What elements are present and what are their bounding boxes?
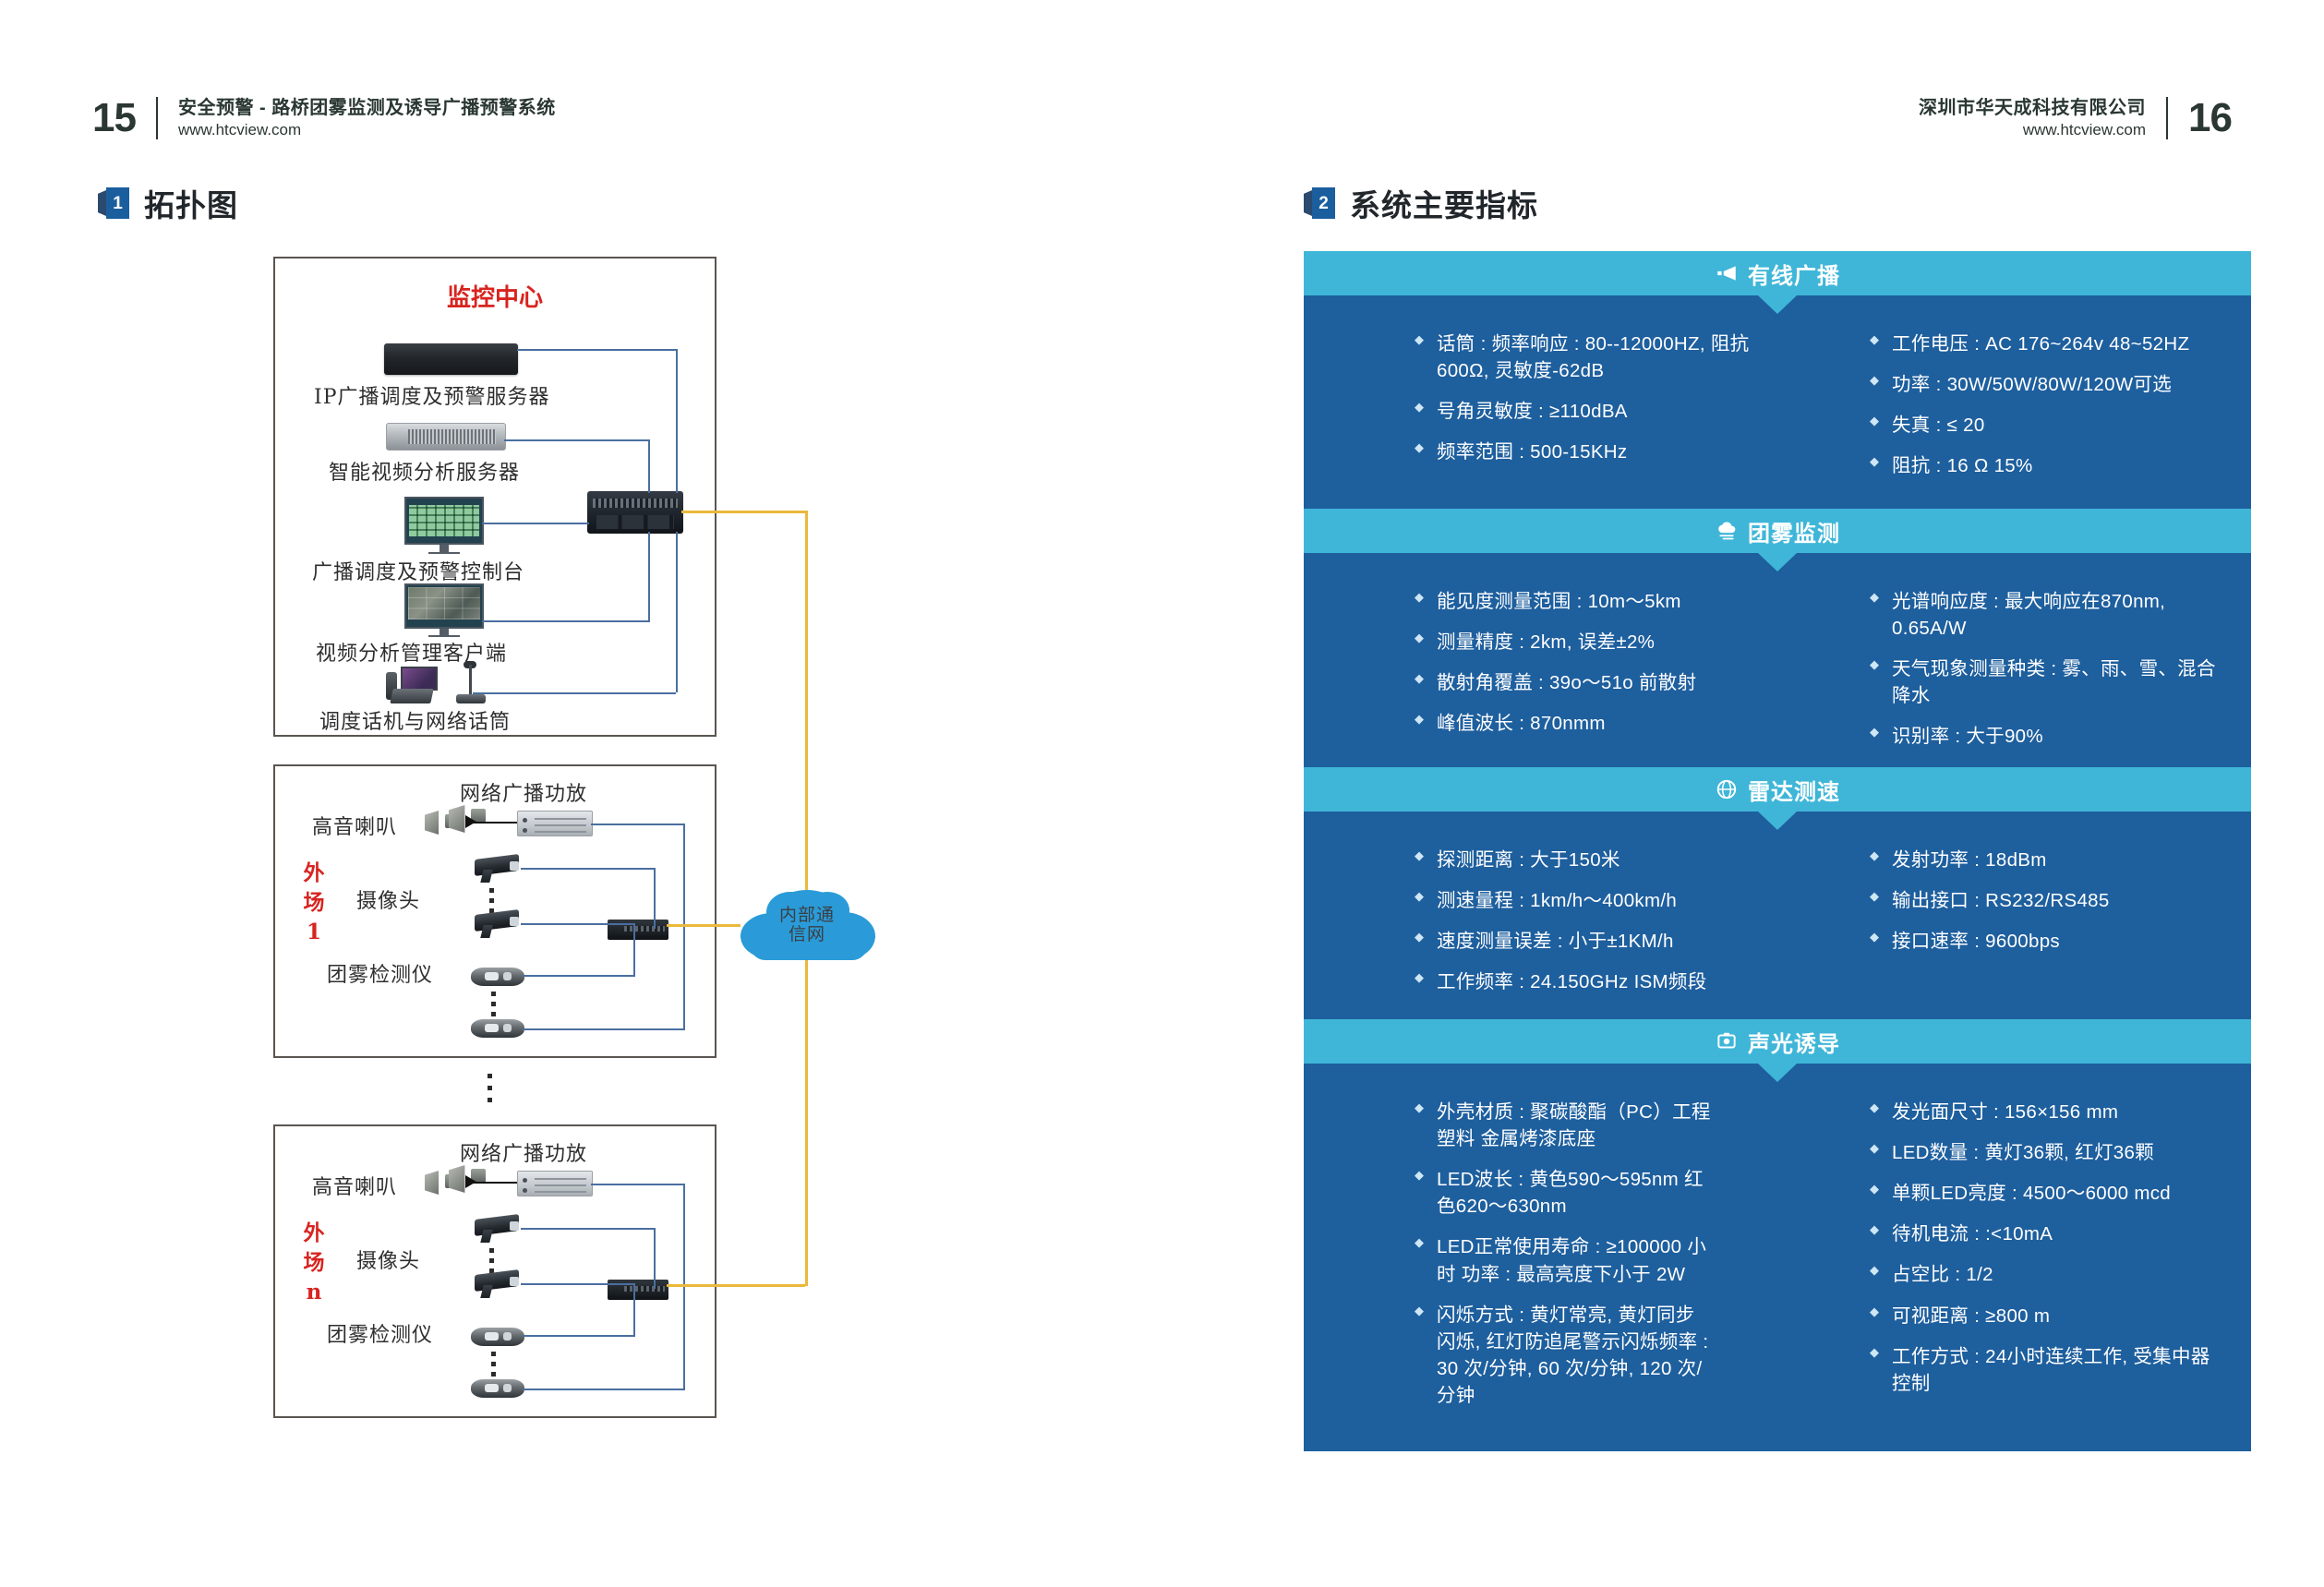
node-label-ip-server: IP广播调度及预警服务器 (314, 380, 550, 410)
control-console-monitor-icon (404, 497, 484, 554)
field-box-1: 外 场 1 网络广播功放 高音喇叭 (273, 764, 716, 1058)
spec-item: 号角灵敏度 : ≥110dBA (1415, 398, 1755, 425)
amp-to-speaker-arrow-head-n (465, 1175, 476, 1188)
wire-fog1a-h (523, 975, 635, 977)
cloud-label: 内部通 信网 (729, 875, 885, 975)
panel-1-col-right: 工作电压 : AC 176~264v 48~52HZ 功率 : 30W/50W/… (1777, 331, 2251, 479)
wire-server2-v (648, 439, 650, 493)
node-label-console: 广播调度及预警控制台 (312, 556, 524, 585)
spec-item: 可视距离 : ≥800 m (1870, 1303, 2229, 1329)
megaphone-icon (1715, 261, 1739, 285)
wire-console-h (482, 523, 589, 524)
fieldn-label-line2: 场 (295, 1248, 332, 1278)
spec-item: 速度测量误差 : 小于±1KM/h (1415, 928, 1755, 955)
panel-title-3: 雷达测速 (1748, 774, 1840, 806)
panel-body-3: 探测距离 : 大于150米 测速量程 : 1km/h～400km/h 速度测量误… (1304, 812, 2251, 1027)
node-label-phone-mic: 调度话机与网络话筒 (319, 705, 511, 735)
spec-item: 峰值波长 : 870nmm (1415, 710, 1755, 737)
wire-fognb-h (523, 1389, 685, 1390)
spec-item: 天气现象测量种类 : 雾、雨、雪、混合降水 (1870, 655, 2229, 709)
field1-label-line3: 1 (295, 918, 332, 947)
spec-item: 工作方式 : 24小时连续工作, 受集中器控制 (1870, 1343, 2229, 1397)
spec-item: 发光面尺寸 : 156×156 mm (1870, 1099, 2229, 1125)
header-url-right[interactable]: www.htcview.com (2023, 120, 2146, 139)
panel-3-col-right: 发射功率 : 18dBm 输出接口 : RS232/RS485 接口速率 : 9… (1777, 847, 2251, 995)
folio-right: 16 (2188, 98, 2232, 138)
rack-server-dark-icon (384, 343, 518, 375)
spec-item: 测速量程 : 1km/h～400km/h (1415, 887, 1755, 914)
fog-detector-icon-1b (471, 1019, 524, 1038)
cloud-label-line1: 内部通 (779, 906, 835, 925)
spec-item: 工作电压 : AC 176~264v 48~52HZ (1870, 331, 2229, 357)
panel-title-4: 声光诱导 (1748, 1026, 1840, 1058)
wire-cam1a-h (521, 868, 656, 870)
network-amplifier-icon-n (517, 1171, 593, 1196)
desk-phone-icon (386, 667, 441, 705)
spec-item: 功率 : 30W/50W/80W/120W可选 (1870, 371, 2229, 398)
amp-to-speaker-arrow-line-n (473, 1182, 517, 1184)
spec-item: 光谱响应度 : 最大响应在870nm, 0.65A/W (1870, 588, 2229, 642)
field-box-n-side-label: 外 场 n (295, 1219, 332, 1308)
node-label-camera-n: 摄像头 (356, 1244, 420, 1274)
spec-item: LED数量 : 黄灯36颗, 红灯36颗 (1870, 1139, 2229, 1166)
panel-header-4: 声光诱导 (1304, 1019, 2251, 1064)
ellipsis-between-field-boxes (488, 1074, 492, 1102)
video-wall-monitor-icon (404, 583, 484, 637)
wire-cam1b-v (633, 923, 635, 931)
camera-ellipsis-1 (489, 888, 494, 913)
spec-item: 探测距离 : 大于150米 (1415, 847, 1755, 873)
panel-4-col-left: 外壳材质 : 聚碳酸酯（PC）工程塑料 金属烤漆底座 LED波长 : 黄色590… (1304, 1099, 1777, 1409)
spec-item: LED波长 : 黄色590～595nm 红色620～630nm (1415, 1166, 1713, 1220)
spec-item: 待机电流 : :<10mA (1870, 1220, 2229, 1247)
core-switch-icon (587, 491, 683, 534)
spec-item: 识别率 : 大于90% (1870, 723, 2229, 750)
wire-fog1b-h (523, 1028, 685, 1030)
node-label-video-client: 视频分析管理客户端 (316, 637, 507, 667)
fog-ellipsis-1 (491, 992, 496, 1016)
amp-to-speaker-arrow-line-1 (473, 822, 517, 824)
fog-detector-icon-na (471, 1328, 524, 1346)
wire-camna-v (654, 1228, 656, 1289)
spec-item: 频率范围 : 500-15KHz (1415, 439, 1755, 465)
fiber-backbone-vertical-bottom (805, 924, 808, 1286)
node-label-speaker-n: 高音喇叭 (312, 1171, 397, 1200)
node-label-fog-1: 团雾检测仪 (327, 958, 433, 988)
fog-ellipsis-n (491, 1352, 496, 1377)
bullet-camera-icon-na (475, 1217, 523, 1244)
cloud-label-line2: 信网 (789, 925, 825, 944)
node-label-speaker-1: 高音喇叭 (312, 811, 397, 840)
monitoring-center-title: 监控中心 (275, 279, 715, 313)
radar-globe-icon (1715, 777, 1739, 801)
node-label-camera-1: 摄像头 (356, 884, 420, 914)
node-label-fog-n: 团雾检测仪 (327, 1318, 433, 1348)
wire-camnb-h (521, 1283, 635, 1285)
network-cloud-icon: 内部通 信网 (729, 875, 885, 975)
wire-fogna-v (633, 1291, 635, 1335)
spec-item: 失真 : ≤ 20 (1870, 412, 2229, 439)
spec-panel-wired-broadcast: 有线广播 话筒 : 频率响应 : 80--12000HZ, 阻抗600Ω, 灵敏… (1304, 251, 2251, 511)
wire-camn a-h (521, 1228, 656, 1230)
spec-panel-audio-visual-guidance: 声光诱导 外壳材质 : 聚碳酸酯（PC）工程塑料 金属烤漆底座 LED波长 : … (1304, 1019, 2251, 1451)
fiber-backbone-vertical-top (805, 511, 808, 917)
fog-detector-icon-nb (471, 1379, 524, 1398)
page-header-right: 深圳市华天成科技有限公司 www.htcview.com 16 (1919, 89, 2232, 148)
spec-panel-radar-speed: 雷达测速 探测距离 : 大于150米 测速量程 : 1km/h～400km/h … (1304, 767, 2251, 1027)
spec-item: 占空比 : 1/2 (1870, 1261, 2229, 1288)
section-number-2: 2 (1319, 195, 1329, 212)
spec-item: 工作频率 : 24.150GHz ISM频段 (1415, 968, 1755, 995)
spec-item: LED正常使用寿命 : ≥100000 小时 功率 : 最高亮度下小于 2W (1415, 1233, 1713, 1287)
spec-item: 闪烁方式 : 黄灯常亮, 黄灯同步闪烁, 红灯防追尾警示闪烁频率 : 30 次/… (1415, 1302, 1713, 1409)
rack-server-light-icon (386, 423, 506, 451)
panel-2-col-left: 能见度测量范围 : 10m～5km 测量精度 : 2km, 误差±2% 散射角覆… (1304, 588, 1777, 791)
fieldn-label-line1: 外 (295, 1219, 332, 1248)
wire-client-v (648, 532, 650, 620)
wire-camnb-v (633, 1283, 635, 1291)
panel-2-col-right: 光谱响应度 : 最大响应在870nm, 0.65A/W 天气现象测量种类 : 雾… (1777, 588, 2251, 791)
panel-4-col-right: 发光面尺寸 : 156×156 mm LED数量 : 黄灯36颗, 红灯36颗 … (1777, 1099, 2251, 1409)
fiber-fieldn-to-backbone (667, 1284, 805, 1287)
network-amplifier-icon-1 (517, 811, 593, 836)
section-number-badge-icon-2: 2 (1304, 187, 1335, 219)
wire-fog1a-v (633, 931, 635, 975)
spec-item: 话筒 : 频率响应 : 80--12000HZ, 阻抗600Ω, 灵敏度-62d… (1415, 331, 1755, 384)
fog-detector-icon-1a (471, 968, 524, 986)
fog-cloud-icon (1715, 519, 1739, 543)
spec-item: 散射角覆盖 : 39o～51o 前散射 (1415, 669, 1755, 696)
spec-item: 输出接口 : RS232/RS485 (1870, 887, 2229, 914)
wire-server2-h (504, 439, 650, 441)
bullet-camera-icon-1a (475, 857, 523, 884)
field1-label-line1: 外 (295, 859, 332, 888)
panel-header-1: 有线广播 (1304, 251, 2251, 295)
spec-item: 接口速率 : 9600bps (1870, 928, 2229, 955)
wire-ampn-h (591, 1184, 685, 1185)
spec-item: 测量精度 : 2km, 误差±2% (1415, 629, 1755, 655)
header-company-right: 深圳市华天成科技有限公司 (1919, 97, 2146, 120)
topology-diagram: 监控中心 IP广播调度及预警服务器 智能视频分析服务器 广播调度及预警控制台 视… (0, 0, 1274, 1587)
monitoring-center-box: 监控中心 IP广播调度及预警服务器 智能视频分析服务器 广播调度及预警控制台 视… (273, 257, 716, 737)
wire-phone-v (676, 532, 678, 692)
field-box-n: 外 场 n 网络广播功放 高音喇叭 (273, 1124, 716, 1418)
wire-client-h (482, 620, 650, 622)
spec-item: 能见度测量范围 : 10m～5km (1415, 588, 1755, 615)
field1-label-line2: 场 (295, 888, 332, 918)
wire-cam1a-v (654, 868, 656, 929)
header-divider-right (2166, 97, 2168, 139)
section-title-specs: 2 系统主要指标 (1304, 181, 1538, 225)
wire-server1-h (517, 349, 678, 351)
node-label-video-server: 智能视频分析服务器 (329, 456, 520, 486)
wire-server1-v (676, 349, 678, 493)
panel-title-2: 团雾监测 (1748, 515, 1840, 547)
panel-title-1: 有线广播 (1748, 258, 1840, 290)
camera-ellipsis-n (489, 1248, 494, 1273)
spec-item: 外壳材质 : 聚碳酸酯（PC）工程塑料 金属烤漆底座 (1415, 1099, 1713, 1152)
warning-lamp-icon (1715, 1029, 1739, 1053)
fieldn-label-line3: n (295, 1278, 332, 1307)
spec-item: 单颗LED亮度 : 4500～6000 mcd (1870, 1180, 2229, 1207)
section-label-specs: 系统主要指标 (1350, 181, 1538, 225)
bullet-camera-icon-nb (475, 1272, 523, 1300)
amp-to-speaker-arrow-head-1 (465, 815, 476, 828)
bullet-camera-icon-1b (475, 912, 523, 940)
fiber-center-to-backbone (681, 511, 807, 513)
wire-phone-h (473, 692, 676, 694)
panel-1-col-left: 话筒 : 频率响应 : 80--12000HZ, 阻抗600Ω, 灵敏度-62d… (1304, 331, 1777, 479)
wire-amp1-h (591, 824, 685, 825)
brochure-page: 15 安全预警 - 路桥团雾监测及诱导广播预警系统 www.htcview.co… (0, 0, 2324, 1587)
wire-fogna-h (523, 1335, 635, 1337)
wire-cam1b-h (521, 923, 635, 925)
panel-body-1: 话筒 : 频率响应 : 80--12000HZ, 阻抗600Ω, 灵敏度-62d… (1304, 295, 2251, 511)
spec-item: 阻抗 : 16 Ω 15% (1870, 452, 2229, 479)
panel-header-2: 团雾监测 (1304, 509, 2251, 553)
desk-microphone-icon (456, 665, 486, 705)
spec-item: 发射功率 : 18dBm (1870, 847, 2229, 873)
field-box-1-side-label: 外 场 1 (295, 859, 332, 948)
panel-3-col-left: 探测距离 : 大于150米 测速量程 : 1km/h～400km/h 速度测量误… (1304, 847, 1777, 995)
panel-header-3: 雷达测速 (1304, 767, 2251, 812)
panel-body-4: 外壳材质 : 聚碳酸酯（PC）工程塑料 金属烤漆底座 LED波长 : 黄色590… (1304, 1064, 2251, 1451)
